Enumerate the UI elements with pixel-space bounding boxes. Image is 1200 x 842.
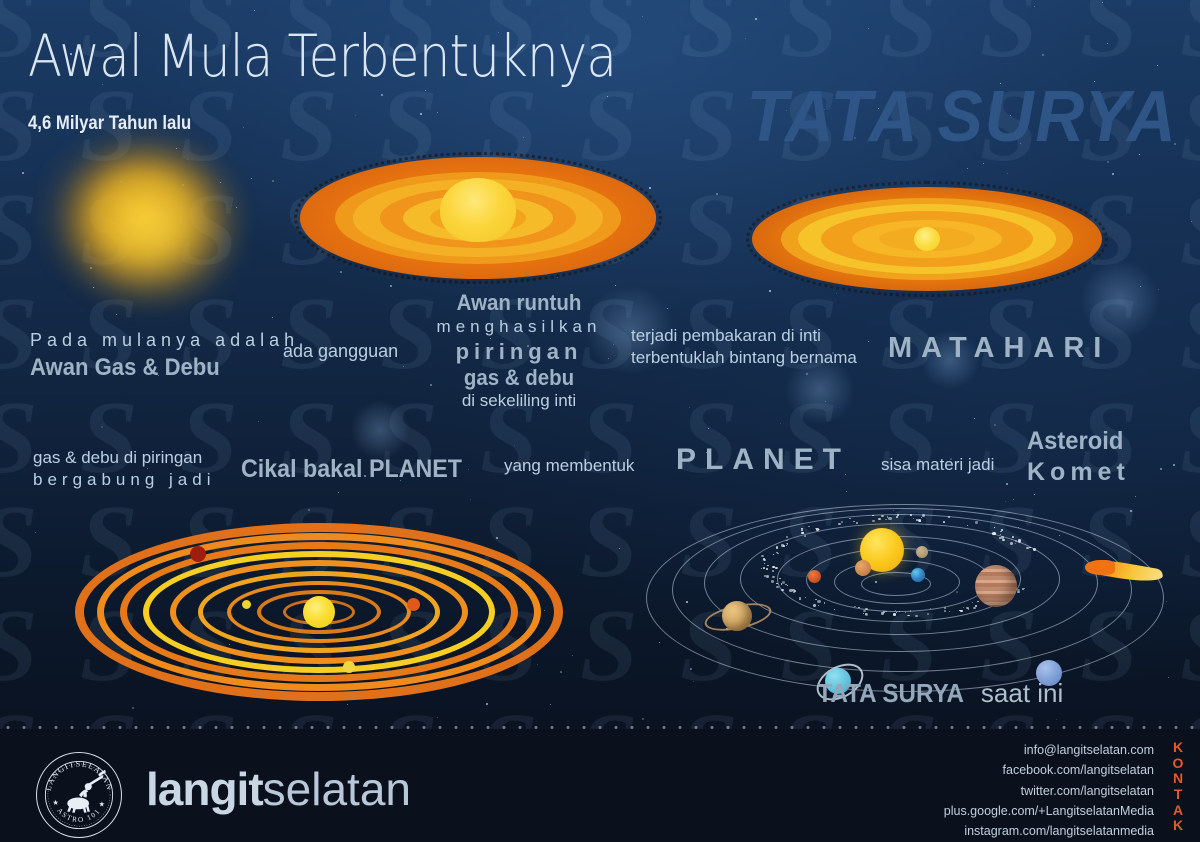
caption-leftovers: sisa materi jadi [881, 455, 994, 475]
page-subtitle: 4,6 Milyar Tahun lalu [28, 113, 191, 135]
caption-accretion: gas & debu di piringan bergabung jadi [33, 448, 215, 490]
contact-list: info@langitselatan.com facebook.com/lang… [944, 740, 1154, 841]
kontak-label: KONTAK [1168, 740, 1188, 834]
infographic-poster: SSSSSSSSSSSSSSSSSSSSSSSSSSSSSSSSSSSSSSSS… [0, 0, 1200, 842]
caption-forming: yang membentuk [504, 456, 634, 476]
footer-divider [0, 726, 1200, 729]
label-matahari: MATAHARI [888, 331, 1110, 365]
caption-star-ignition: terjadi pembakaran di inti terbentuklah … [631, 326, 857, 368]
caption-disturbance: ada gangguan [283, 341, 398, 362]
label-cikal-bakal-planet: Cikal bakal PLANET [241, 455, 479, 485]
page-title: Awal Mula Terbentuknya [28, 22, 616, 90]
contact-item[interactable]: info@langitselatan.com [944, 740, 1154, 760]
big-title: TATA SURYA [747, 76, 1178, 158]
contact-item[interactable]: plus.google.com/+LangitselatanMedia [944, 801, 1154, 821]
contact-item[interactable]: instagram.com/langitselatanmedia [944, 821, 1154, 841]
contact-item[interactable]: twitter.com/langitselatan [944, 781, 1154, 801]
svg-text:LANGITSELATAN: LANGITSELATAN [44, 759, 115, 791]
brand-light: selatan [263, 763, 411, 815]
brand-wordmark: langitselatan [146, 762, 411, 816]
langitselatan-logo: LANGITSELATAN ★ ASTRO 101 ★ [36, 752, 122, 838]
caption-collapse: Awan runtuh menghasilkan piringan gas & … [434, 290, 604, 411]
label-tata-surya-today: TATA SURYA saat ini [812, 678, 1063, 709]
text-layer: Awal Mula Terbentuknya 4,6 Milyar Tahun … [0, 0, 1200, 842]
label-asteroid-komet: Asteroid Komet [1027, 427, 1130, 487]
caption-cloud: Pada mulanya adalah Awan Gas & Debu [30, 330, 299, 383]
label-planet: PLANET [676, 442, 850, 477]
contact-item[interactable]: facebook.com/langitselatan [944, 760, 1154, 780]
brand-bold: langit [146, 763, 263, 815]
